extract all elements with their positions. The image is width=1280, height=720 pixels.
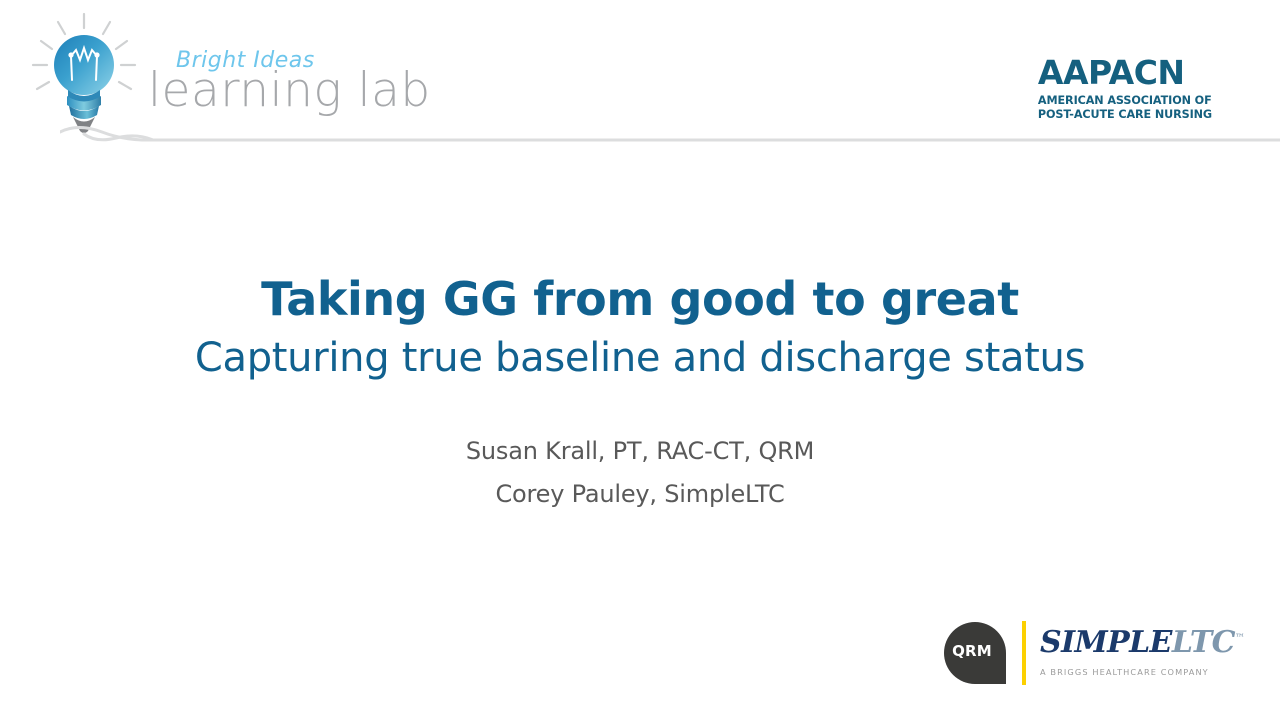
simpleltc-name-part1: SIMPLE [1040, 625, 1172, 660]
qrm-logo: QRM [944, 622, 1006, 684]
presenter-name: Susan Krall, PT, RAC-CT, QRM [0, 430, 1280, 473]
aapacn-tagline-line2: POST-ACUTE CARE NURSING [1038, 108, 1212, 122]
simpleltc-wordmark: SIMPLELTC™ [1040, 628, 1210, 658]
footer-logo-separator [1022, 621, 1026, 685]
slide-title: Taking GG from good to great [0, 272, 1280, 326]
learning-lab-wordmark-text: learning lab [148, 67, 431, 114]
simpleltc-name-part2: LTC [1172, 625, 1235, 660]
trademark-icon: ™ [1235, 633, 1244, 644]
aapacn-tagline-line1: AMERICAN ASSOCIATION OF [1038, 94, 1212, 108]
header-divider-line [60, 122, 1280, 150]
aapacn-tagline: AMERICAN ASSOCIATION OF POST-ACUTE CARE … [1038, 94, 1212, 121]
simpleltc-tagline: A BRIGGS HEALTHCARE COMPANY [1040, 667, 1210, 677]
aapacn-text-block: AAPACN AMERICAN ASSOCIATION OF POST-ACUT… [1038, 56, 1212, 121]
presenter-name: Corey Pauley, SimpleLTC [0, 473, 1280, 516]
footer-logo-group: QRM SIMPLELTC™ A BRIGGS HEALTHCARE COMPA… [944, 618, 1206, 696]
aapacn-acronym: AAPACN [1038, 56, 1212, 89]
presenter-list: Susan Krall, PT, RAC-CT, QRM Corey Paule… [0, 430, 1280, 515]
title-block: Taking GG from good to great Capturing t… [0, 272, 1280, 382]
simpleltc-logo: SIMPLELTC™ A BRIGGS HEALTHCARE COMPANY [1040, 628, 1210, 677]
qrm-logo-label: QRM [944, 622, 1000, 680]
slide-subtitle: Capturing true baseline and discharge st… [0, 334, 1280, 382]
slide-header: Bright Ideas learning lab AAPACN AMERICA… [0, 0, 1280, 150]
